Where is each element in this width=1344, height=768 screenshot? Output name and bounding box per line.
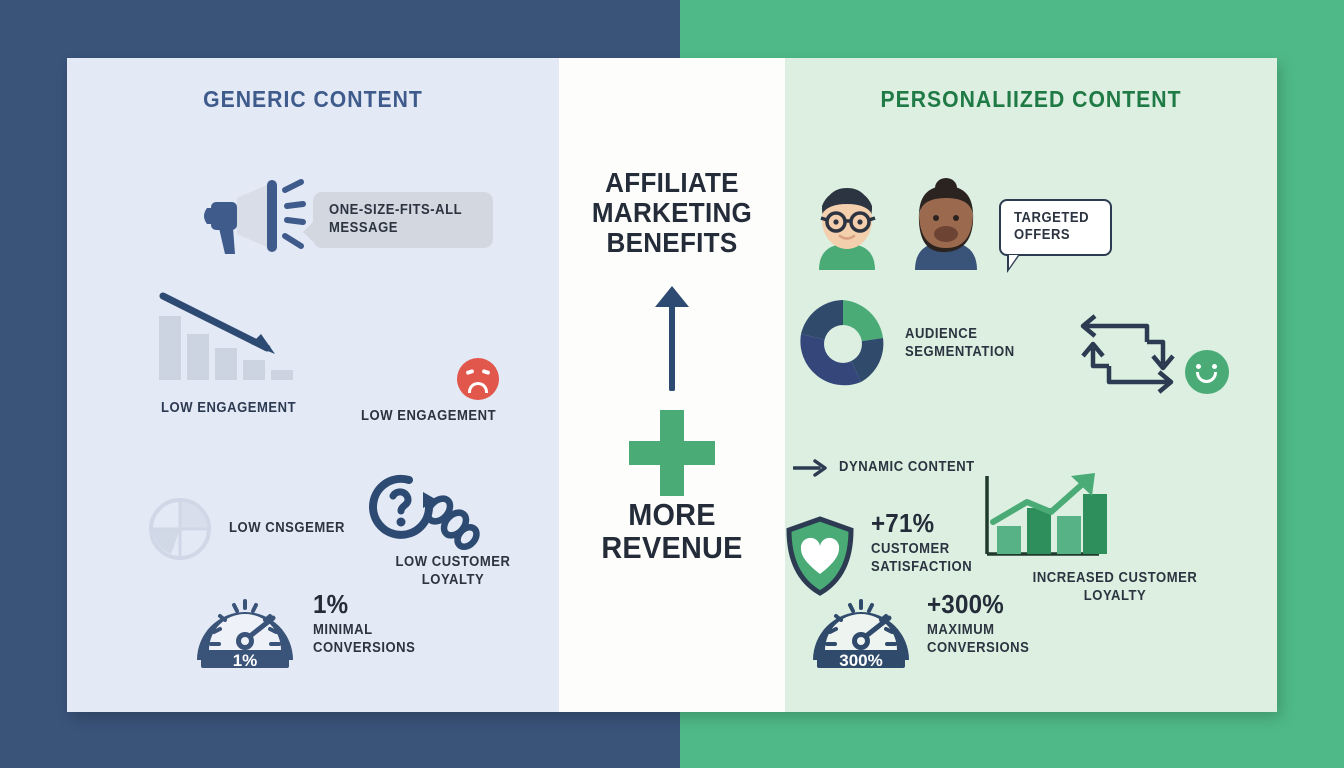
center-heading-line-3: BENEFITS [567, 228, 777, 258]
gauge-value-right: 300% [839, 651, 882, 670]
rising-bar-chart-icon [965, 470, 1265, 566]
avatar-beard-bun-icon [903, 168, 989, 280]
customer-satisfaction-label-1: CUSTOMER [871, 541, 972, 559]
faded-pie-group: LOW CNSGEMER [147, 496, 358, 562]
low-loyalty-label-1: LOW CUSTOMER [372, 554, 534, 572]
speech-bubble-personalized: TARGETED OFFERS [999, 199, 1112, 256]
plus-icon [629, 410, 715, 496]
minimal-conversions-label-1: MINIMAL [313, 622, 415, 640]
bubble-line-2: MESSAGE [329, 220, 462, 238]
center-heading: AFFILIATE MARKETING BENEFITS [559, 168, 785, 258]
megaphone-group: ONE-SIZE-FITS-ALL MESSAGE [197, 168, 493, 264]
faded-pie-chart-icon [147, 496, 213, 562]
declining-bar-chart-icon [155, 290, 311, 394]
center-heading-line-2: MARKETING [567, 198, 777, 228]
panel-personalized-content: PERSONALIIZED CONTENT [785, 58, 1277, 712]
center-footer-line-1: MORE [567, 498, 777, 531]
audience-seg-label-2: SEGMENTATION [905, 344, 1015, 362]
broken-loyalty-group: LOW CUSTOMER LOYALTY [363, 470, 543, 589]
smiley-face-icon [1185, 350, 1229, 394]
low-consumer-label: LOW CNSGEMER [229, 520, 345, 538]
donut-chart-icon [795, 296, 891, 392]
audience-seg-label-1: AUDIENCE [905, 326, 1015, 344]
cycle-smiley-group [1075, 308, 1229, 400]
center-heading-line-1: AFFILIATE [567, 168, 777, 198]
low-engagement-face-label: LOW ENGAGEMENT [361, 408, 523, 426]
gauge-icon: 1% [193, 574, 297, 672]
megaphone-icon [197, 168, 317, 264]
bubble-line-1: ONE-SIZE-FITS-ALL [329, 202, 462, 220]
infographic-card: GENERIC CONTENT [67, 58, 1277, 712]
minimal-conversions-label-2: CONVERSIONS [313, 640, 415, 658]
avatar-glasses-icon [805, 174, 889, 280]
maximum-conversions-group: 300% +300% MAXIMUM CONVERSIONS [809, 574, 1041, 672]
dynamic-content-group: DYNAMIC CONTENT [793, 458, 990, 478]
gauge-value-left: 1% [233, 651, 258, 670]
panel-generic-content: GENERIC CONTENT [67, 58, 559, 712]
center-footer: MORE REVENUE [559, 498, 785, 564]
center-footer-line-2: REVENUE [567, 531, 777, 564]
sad-face-icon [457, 358, 499, 400]
maximum-conversions-stat: +300% [927, 589, 1033, 620]
low-engagement-bars-label: LOW ENGAGEMENT [161, 400, 296, 418]
page-title-personalized: PERSONALIIZED CONTENT [805, 86, 1258, 113]
avatars-group: TARGETED OFFERS [805, 168, 1112, 280]
arrow-right-icon [793, 458, 827, 478]
speech-bubble-generic: ONE-SIZE-FITS-ALL MESSAGE [313, 192, 493, 247]
customer-satisfaction-stat: +71% [871, 508, 976, 539]
gauge-icon: 300% [809, 574, 913, 672]
targeted-bubble-line-2: OFFERS [1014, 227, 1089, 245]
audience-segmentation-group: AUDIENCE SEGMENTATION [795, 296, 1027, 392]
cycle-arrows-icon [1075, 308, 1179, 400]
sad-face-group: LOW ENGAGEMENT [361, 358, 541, 426]
declining-bars-group: LOW ENGAGEMENT [155, 290, 311, 418]
minimal-conversions-stat: 1% [313, 589, 419, 620]
dynamic-content-label: DYNAMIC CONTENT [839, 459, 975, 477]
minimal-conversions-group: 1% 1% MINIMAL CONVERSIONS [193, 574, 427, 672]
question-broken-link-icon [363, 470, 543, 550]
arrow-up-icon [651, 283, 693, 391]
targeted-bubble-line-1: TARGETED [1014, 210, 1089, 228]
panel-affiliate-benefits: AFFILIATE MARKETING BENEFITS MORE REVENU… [559, 58, 785, 712]
maximum-conversions-label-1: MAXIMUM [927, 622, 1029, 640]
maximum-conversions-label-2: CONVERSIONS [927, 640, 1029, 658]
page-title-generic: GENERIC CONTENT [87, 86, 540, 113]
